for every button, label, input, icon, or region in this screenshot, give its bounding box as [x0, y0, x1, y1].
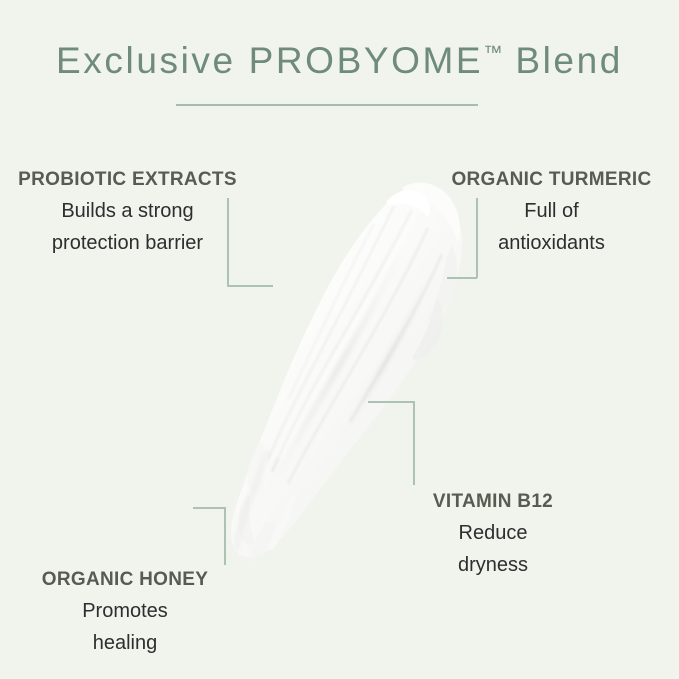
- callout-vitamin-b12-description: Reduce dryness: [363, 517, 623, 582]
- connector-line-honey-horizontal: [193, 507, 226, 509]
- connector-line-vitamin-horizontal: [368, 401, 415, 403]
- trademark-symbol: ™: [483, 43, 502, 64]
- callout-vitamin-b12-desc-line2: dryness: [363, 549, 623, 581]
- callout-vitamin-b12: VITAMIN B12 Reduce dryness: [363, 490, 623, 582]
- callout-organic-turmeric: ORGANIC TURMERIC Full of antioxidants: [424, 168, 679, 260]
- callout-organic-honey-desc-line2: healing: [0, 627, 250, 659]
- callout-organic-turmeric-title: ORGANIC TURMERIC: [424, 168, 679, 192]
- callout-probiotic-extracts-description: Builds a strong protection barrier: [0, 195, 255, 260]
- page-title: Exclusive PROBYOME™ Blend: [0, 40, 679, 83]
- connector-line-vitamin-vertical: [413, 401, 415, 485]
- callout-probiotic-extracts: PROBIOTIC EXTRACTS Builds a strong prote…: [0, 168, 255, 260]
- callout-probiotic-extracts-desc-line2: protection barrier: [0, 227, 255, 259]
- callout-organic-turmeric-desc-line2: antioxidants: [424, 227, 679, 259]
- page-title-suffix: Blend: [515, 40, 623, 81]
- callout-probiotic-extracts-desc-line1: Builds a strong: [0, 195, 255, 227]
- callout-organic-turmeric-desc-line1: Full of: [424, 195, 679, 227]
- callout-organic-honey-desc-line1: Promotes: [0, 595, 250, 627]
- callout-vitamin-b12-desc-line1: Reduce: [363, 517, 623, 549]
- connector-line-turmeric-horizontal: [447, 277, 477, 279]
- callout-organic-honey-description: Promotes healing: [0, 595, 250, 660]
- page-title-main: Exclusive PROBYOME: [56, 40, 483, 81]
- connector-line-probiotic-horizontal: [227, 285, 273, 287]
- callout-vitamin-b12-title: VITAMIN B12: [363, 490, 623, 514]
- title-divider: [176, 104, 478, 106]
- callout-probiotic-extracts-title: PROBIOTIC EXTRACTS: [0, 168, 255, 192]
- connector-line-honey-vertical: [224, 507, 226, 565]
- callout-organic-honey-title: ORGANIC HONEY: [0, 568, 250, 592]
- product-ingredients-infographic: Exclusive PROBYOME™ Blend: [0, 0, 679, 679]
- callout-organic-honey: ORGANIC HONEY Promotes healing: [0, 568, 250, 660]
- callout-organic-turmeric-description: Full of antioxidants: [424, 195, 679, 260]
